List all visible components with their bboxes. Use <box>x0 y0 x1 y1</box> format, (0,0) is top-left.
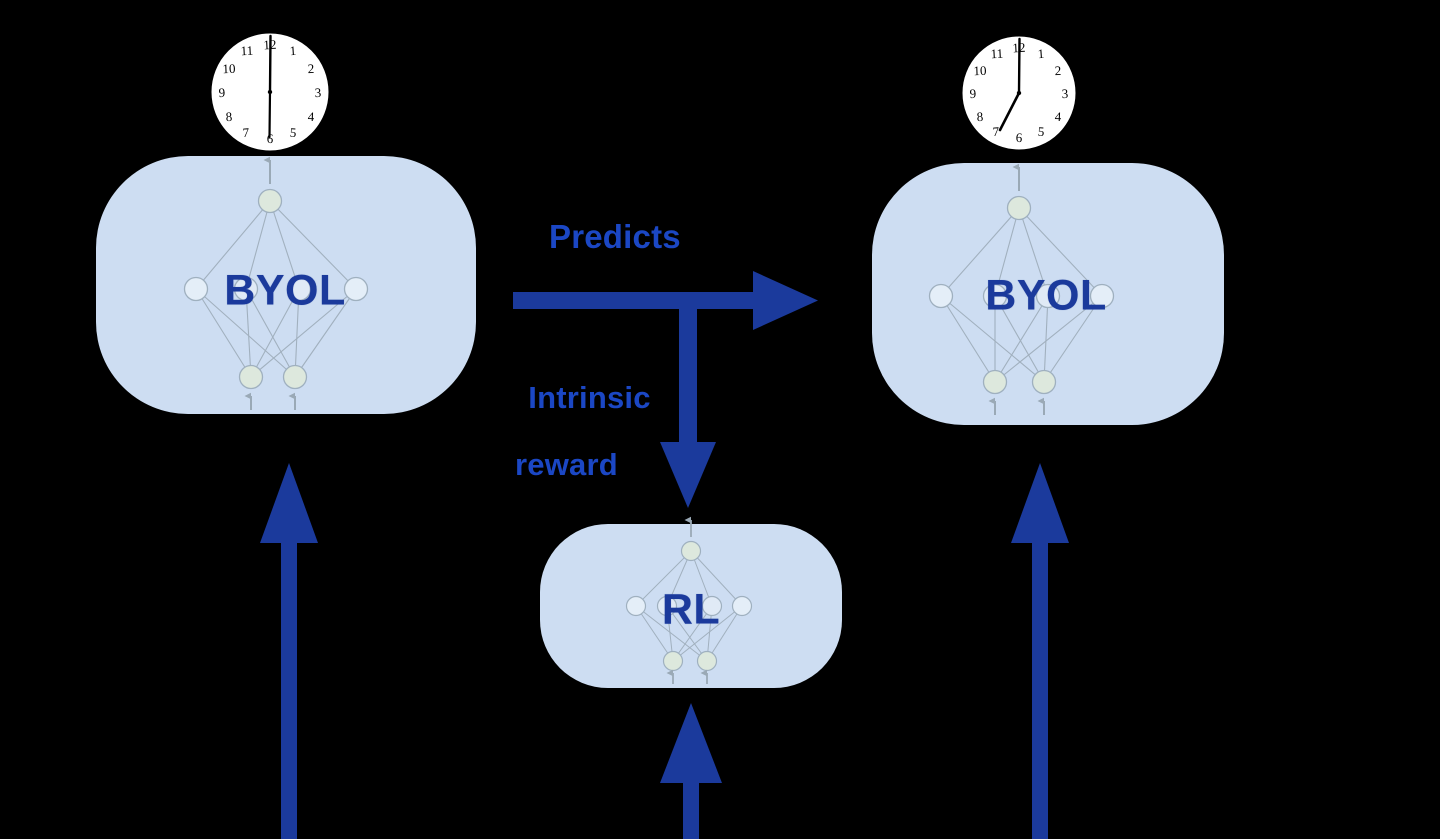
svg-text:6: 6 <box>1016 130 1024 145</box>
intrinsic-reward-label-line1: Intrinsic <box>528 380 650 415</box>
clock-left: 12 1 2 3 4 5 6 7 8 9 10 11 <box>212 34 328 150</box>
module-label-byol-right: BYOL <box>985 272 1106 321</box>
intrinsic-reward-arrow <box>660 300 716 508</box>
svg-text:9: 9 <box>218 85 225 100</box>
clock-right: 12 1 2 3 4 5 6 7 8 9 10 11 <box>963 37 1075 149</box>
svg-text:5: 5 <box>289 125 296 140</box>
svg-text:5: 5 <box>1037 124 1044 139</box>
predicts-label: Predicts <box>549 219 681 255</box>
intrinsic-reward-label: Intrinsic reward <box>493 348 651 549</box>
svg-text:10: 10 <box>973 63 987 78</box>
svg-text:8: 8 <box>976 109 984 124</box>
observation-arrow-rl <box>660 703 722 839</box>
svg-text:3: 3 <box>1061 86 1068 101</box>
svg-text:2: 2 <box>1054 63 1061 78</box>
module-label-rl: RL <box>662 586 720 635</box>
svg-text:3: 3 <box>314 85 321 100</box>
diagram-svg: 12 1 2 3 4 5 6 7 8 9 10 11 12 1 <box>0 0 1440 839</box>
module-label-byol-left: BYOL <box>224 267 345 316</box>
svg-text:11: 11 <box>240 43 253 59</box>
svg-text:7: 7 <box>992 124 1000 139</box>
predicts-arrow <box>513 271 818 330</box>
svg-text:10: 10 <box>222 61 236 76</box>
diagram-canvas: 12 1 2 3 4 5 6 7 8 9 10 11 12 1 <box>0 0 1440 839</box>
observation-arrow-right <box>1011 463 1069 839</box>
svg-text:4: 4 <box>1055 109 1063 124</box>
observation-arrow-left <box>260 463 318 839</box>
svg-text:4: 4 <box>308 109 316 124</box>
svg-text:11: 11 <box>990 46 1003 62</box>
svg-text:1: 1 <box>289 43 297 58</box>
svg-text:7: 7 <box>242 125 250 140</box>
svg-text:1: 1 <box>1037 46 1045 61</box>
svg-text:2: 2 <box>307 61 314 76</box>
svg-text:8: 8 <box>225 109 233 124</box>
intrinsic-reward-label-line2: reward <box>515 448 651 481</box>
svg-text:9: 9 <box>969 86 976 101</box>
